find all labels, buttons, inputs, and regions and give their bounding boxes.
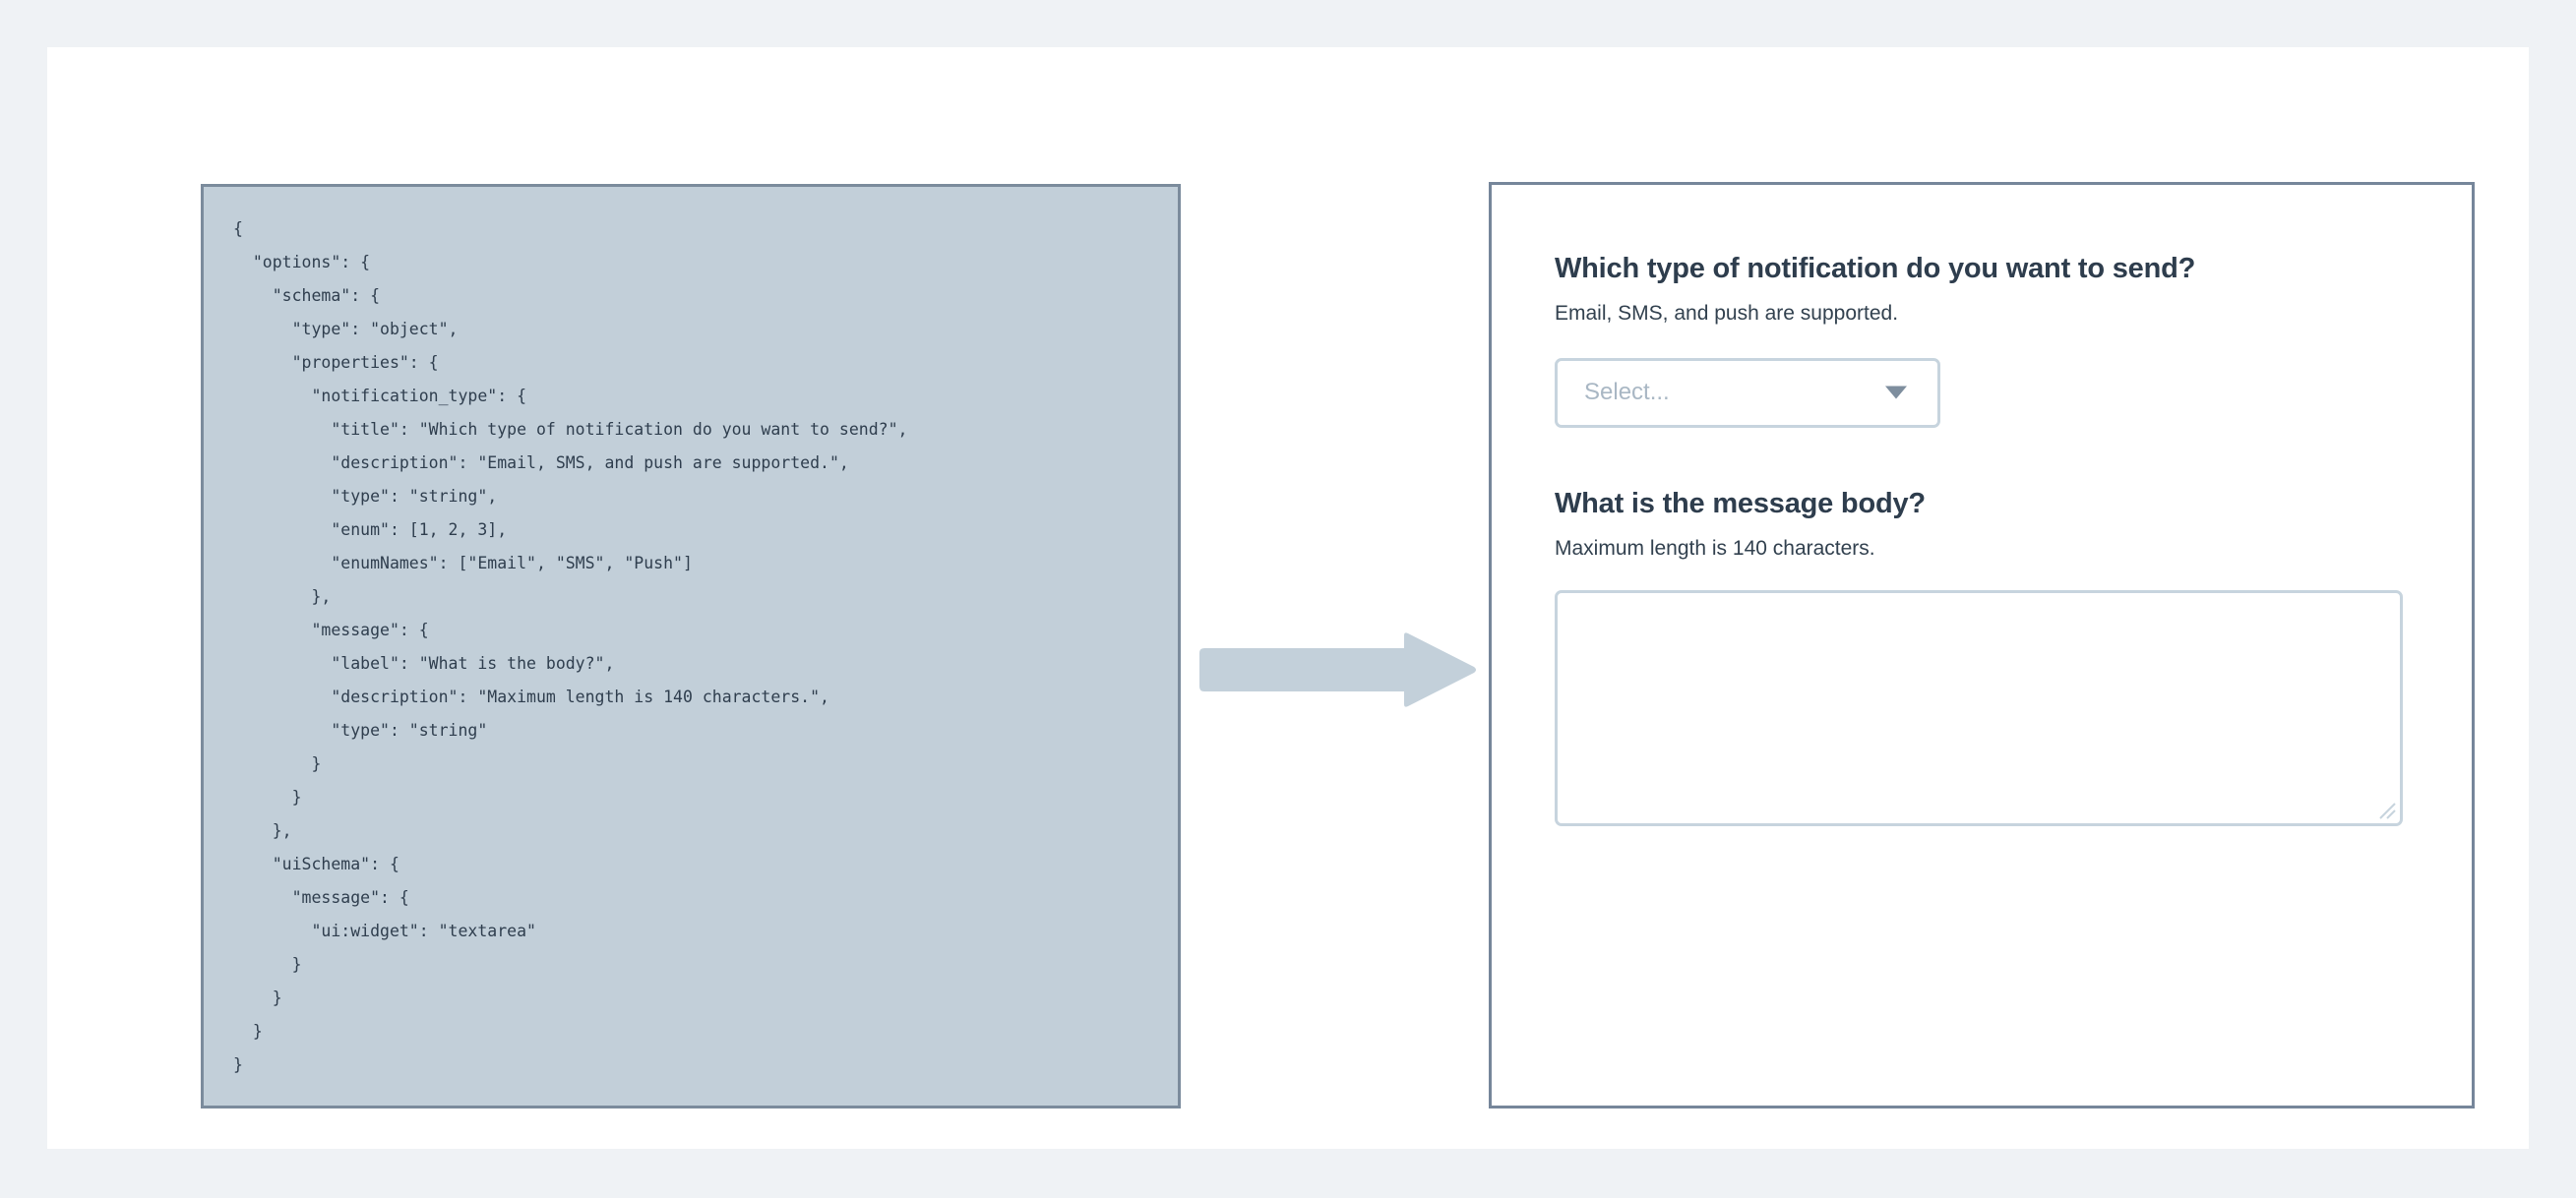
- json-schema-code: { "options": { "schema": { "type": "obje…: [233, 212, 907, 1082]
- field-message-body-description: Maximum length is 140 characters.: [1555, 535, 2405, 562]
- resize-grip-icon[interactable]: [2375, 799, 2397, 820]
- form-body: Which type of notification do you want t…: [1555, 252, 2405, 826]
- rendered-form-panel: Which type of notification do you want t…: [1489, 182, 2475, 1108]
- page-canvas: { "options": { "schema": { "type": "obje…: [47, 47, 2529, 1149]
- field-notification-type-description: Email, SMS, and push are supported.: [1555, 300, 2405, 327]
- transform-arrow: [1194, 631, 1477, 708]
- notification-type-select-value: Select...: [1558, 381, 1670, 404]
- field-notification-type-label: Which type of notification do you want t…: [1555, 252, 2405, 286]
- message-body-textarea[interactable]: [1555, 590, 2403, 826]
- json-schema-source-panel: { "options": { "schema": { "type": "obje…: [201, 184, 1181, 1108]
- chevron-down-icon: [1885, 387, 1907, 399]
- field-notification-type: Which type of notification do you want t…: [1555, 252, 2405, 428]
- field-message-body: What is the message body? Maximum length…: [1555, 487, 2405, 827]
- notification-type-select[interactable]: Select...: [1555, 358, 1940, 428]
- field-message-body-label: What is the message body?: [1555, 487, 2405, 521]
